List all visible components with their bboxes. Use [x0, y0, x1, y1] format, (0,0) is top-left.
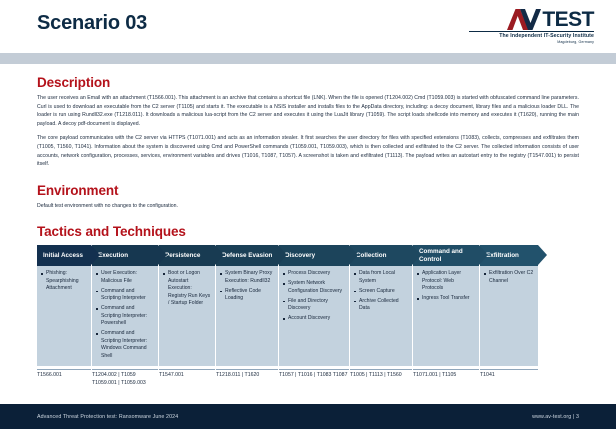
technique-list: Exfiltration Over C2 Channel: [484, 270, 534, 285]
tactic-column-6: Data from Local SystemScreen CaptureArch…: [350, 266, 412, 366]
technique-item: File and Directory Discovery: [283, 298, 345, 313]
technique-list: User Execution: Malicious FileCommand an…: [96, 270, 154, 360]
technique-list: Boot or Logon Autostart Execution: Regis…: [163, 270, 211, 308]
page-content: Description The user receives an Email w…: [0, 75, 616, 388]
technique-ids-6: T1005 | T1113 | T1560: [350, 369, 412, 387]
chevron-arrow-icon: [158, 245, 167, 265]
chevron-arrow-icon: [215, 245, 224, 265]
tactic-header-label: Collection: [356, 252, 386, 260]
tactic-column-3: Boot or Logon Autostart Execution: Regis…: [159, 266, 215, 366]
slide-page: Scenario 03 TEST The Independent IT-Secu…: [0, 0, 616, 429]
environment-heading: Environment: [37, 183, 579, 198]
description-paragraph-2: The core payload communicates with the C…: [37, 134, 579, 168]
technique-item: Ingress Tool Transfer: [417, 295, 475, 303]
technique-item: Archive Collected Data: [354, 298, 408, 313]
description-heading: Description: [37, 75, 579, 90]
footer-right-text[interactable]: www.av-test.org | 3: [532, 414, 579, 420]
technique-list: Data from Local SystemScreen CaptureArch…: [354, 270, 408, 312]
technique-item: Application Layer Protocol: Web Protocol…: [417, 270, 475, 293]
page-header: Scenario 03 TEST The Independent IT-Secu…: [0, 0, 616, 53]
technique-item: Account Discovery: [283, 315, 345, 323]
tactic-header-5[interactable]: Discovery: [279, 245, 349, 266]
technique-item: Process Discovery: [283, 270, 345, 278]
tactic-header-4[interactable]: Defense Evasion: [216, 245, 278, 266]
tactic-header-8[interactable]: Exfiltration: [480, 245, 538, 266]
description-paragraph-1: The user receives an Email with an attac…: [37, 94, 579, 128]
page-footer: Advanced Threat Protection test: Ransomw…: [0, 404, 616, 429]
av-logo-mark-icon: [507, 9, 541, 30]
logo-wordmark: TEST: [542, 9, 594, 30]
tactic-column-1: Phishing: Spearphishing Attachment: [37, 266, 91, 366]
header-band: [0, 53, 616, 64]
tactic-column-4: System Binary Proxy Execution: Rundll32R…: [216, 266, 278, 366]
technique-item: System Binary Proxy Execution: Rundll32: [220, 270, 274, 285]
technique-item: Data from Local System: [354, 270, 408, 285]
tactic-column-8: Exfiltration Over C2 Channel: [480, 266, 538, 366]
logo-tagline: The Independent IT-Security Institute: [469, 31, 594, 39]
technique-item: Boot or Logon Autostart Execution: Regis…: [163, 270, 211, 308]
tactics-body-row: Phishing: Spearphishing AttachmentUser E…: [37, 266, 579, 366]
technique-list: System Binary Proxy Execution: Rundll32R…: [220, 270, 274, 302]
chevron-arrow-icon: [91, 245, 100, 265]
tactic-header-7[interactable]: Command and Control: [413, 245, 479, 266]
tactic-header-label: Command and Control: [419, 248, 479, 263]
tactic-column-5: Process DiscoverySystem Network Configur…: [279, 266, 349, 366]
technique-ids-1: T1566.001: [37, 369, 91, 387]
chevron-arrow-icon: [278, 245, 287, 265]
tactic-header-label: Discovery: [285, 252, 315, 260]
footer-left-text: Advanced Threat Protection test: Ransomw…: [37, 414, 178, 420]
technique-list: Application Layer Protocol: Web Protocol…: [417, 270, 475, 302]
page-title: Scenario 03: [37, 12, 147, 35]
technique-item: Reflective Code Loading: [220, 288, 274, 303]
tactic-header-2[interactable]: Execution: [92, 245, 158, 266]
technique-item: User Execution: Malicious File: [96, 270, 154, 285]
environment-text: Default test environment with no changes…: [37, 202, 579, 211]
tactics-id-row: T1566.001T1204.002 | T1059 T1059.001 | T…: [37, 369, 579, 387]
technique-ids-4: T1218.011 | T1620: [216, 369, 278, 387]
technique-list: Process DiscoverySystem Network Configur…: [283, 270, 345, 322]
technique-item: Command and Scripting Interpreter: Windo…: [96, 330, 154, 360]
technique-list: Phishing: Spearphishing Attachment: [41, 270, 87, 293]
technique-item: Command and Scripting Interpreter: Power…: [96, 305, 154, 328]
technique-item: Screen Capture: [354, 288, 408, 296]
technique-item: Exfiltration Over C2 Channel: [484, 270, 534, 285]
technique-item: System Network Configuration Discovery: [283, 280, 345, 295]
chevron-arrow-icon: [412, 245, 421, 265]
tactic-header-label: Execution: [98, 252, 128, 260]
tactic-header-1[interactable]: Initial Access: [37, 245, 91, 266]
tactics-table: Initial AccessExecutionPersistenceDefens…: [37, 245, 579, 387]
tactic-header-label: Defense Evasion: [222, 252, 272, 260]
tactics-header-row: Initial AccessExecutionPersistenceDefens…: [37, 245, 579, 266]
tactic-header-label: Exfiltration: [486, 252, 519, 260]
av-test-logo: TEST The Independent IT-Security Institu…: [469, 8, 594, 44]
logo-location: Magdeburg, Germany: [469, 40, 594, 44]
technique-ids-5: T1057 | T1016 | T1083 T1087: [279, 369, 349, 387]
technique-ids-3: T1547.001: [159, 369, 215, 387]
technique-item: Command and Scripting Interpreter: [96, 288, 154, 303]
chevron-arrow-icon: [479, 245, 488, 265]
chevron-arrow-icon: [538, 245, 547, 265]
technique-ids-7: T1071.001 | T1105: [413, 369, 479, 387]
technique-ids-8: T1041: [480, 369, 538, 387]
tactic-column-7: Application Layer Protocol: Web Protocol…: [413, 266, 479, 366]
technique-item: Phishing: Spearphishing Attachment: [41, 270, 87, 293]
tactic-header-3[interactable]: Persistence: [159, 245, 215, 266]
tactic-header-6[interactable]: Collection: [350, 245, 412, 266]
tactics-heading: Tactics and Techniques: [37, 224, 579, 239]
tactic-header-label: Initial Access: [43, 252, 83, 260]
technique-ids-2: T1204.002 | T1059 T1059.001 | T1059.003: [92, 369, 158, 387]
chevron-arrow-icon: [349, 245, 358, 265]
tactic-header-label: Persistence: [165, 252, 200, 260]
tactic-column-2: User Execution: Malicious FileCommand an…: [92, 266, 158, 366]
